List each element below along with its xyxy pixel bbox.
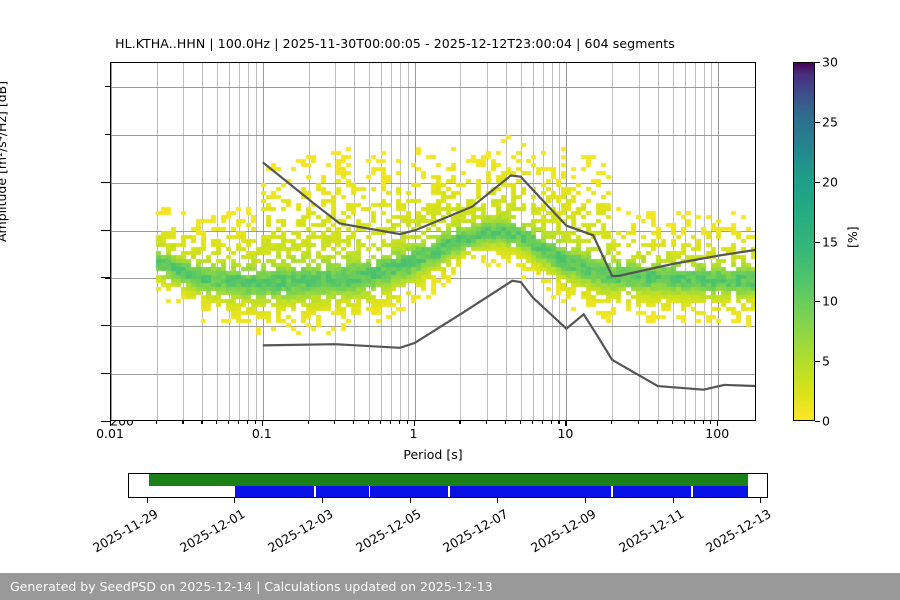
x-tick-mark: [216, 421, 217, 424]
x-tick-mark: [611, 421, 612, 424]
date-tick-mark: [585, 498, 586, 503]
x-tick-mark: [201, 421, 202, 424]
timeline-gap: [611, 486, 613, 498]
date-tick-label: 2025-12-03: [265, 506, 335, 555]
x-tick-mark: [182, 421, 183, 424]
x-tick-mark: [334, 421, 335, 424]
x-tick-label: 1: [410, 426, 418, 441]
x-tick-mark: [156, 421, 157, 424]
page-title: HL.KTHA..HHN | 100.0Hz | 2025-11-30T00:0…: [0, 36, 790, 51]
x-tick-mark: [353, 421, 354, 424]
colorbar-tick-mark: [815, 182, 820, 183]
x-tick-mark: [368, 421, 369, 424]
timeline-gap: [369, 486, 371, 498]
x-tick-mark: [684, 421, 685, 424]
x-tick-mark: [486, 421, 487, 424]
data-availability-timeline[interactable]: [128, 473, 768, 498]
colorbar-tick-mark: [815, 421, 820, 422]
colorbar-tick-label: 0: [822, 414, 830, 429]
colorbar-tick-label: 20: [822, 174, 838, 189]
colorbar-tick-label: 10: [822, 294, 838, 309]
x-tick-mark: [459, 421, 460, 424]
x-tick-label: 100: [705, 426, 729, 441]
x-tick-mark: [380, 421, 381, 424]
psd-figure: HL.KTHA..HHN | 100.0Hz | 2025-11-30T00:0…: [0, 0, 900, 600]
date-tick-label: 2025-12-05: [353, 506, 423, 555]
x-tick-mark: [505, 421, 506, 424]
date-tick-label: 2025-12-11: [616, 506, 686, 555]
x-tick-mark: [238, 421, 239, 424]
date-tick-label: 2025-12-01: [177, 506, 247, 555]
noise-model-lines: [111, 63, 755, 420]
colorbar-tick-label: 25: [822, 114, 838, 129]
colorbar-tick-mark: [815, 301, 820, 302]
x-tick-mark: [657, 421, 658, 424]
x-tick-label: 0.1: [252, 426, 272, 441]
colorbar-tick-label: 15: [822, 234, 838, 249]
x-tick-mark: [551, 421, 552, 424]
footer-text: Generated by SeedPSD on 2025-12-14 | Cal…: [10, 579, 493, 594]
colorbar-tick-mark: [815, 242, 820, 243]
x-tick-mark: [399, 421, 400, 424]
date-tick-mark: [322, 498, 323, 503]
x-tick-mark: [694, 421, 695, 424]
date-tick-label: 2025-11-29: [90, 506, 160, 555]
colorbar-tick-label: 30: [822, 55, 838, 70]
date-tick-mark: [147, 498, 148, 503]
x-tick-label: 0.01: [96, 426, 124, 441]
nhnm-curve: [263, 162, 755, 276]
x-tick-mark: [390, 421, 391, 424]
timeline-gap: [691, 486, 693, 498]
x-tick-mark: [638, 421, 639, 424]
date-tick-mark: [410, 498, 411, 503]
x-tick-mark: [710, 421, 711, 424]
x-tick-mark: [558, 421, 559, 424]
colorbar-tick-mark: [815, 361, 820, 362]
date-tick-label: 2025-12-09: [528, 506, 598, 555]
timeline-clip: [129, 474, 767, 497]
x-tick-mark: [228, 421, 229, 424]
date-tick-mark: [673, 498, 674, 503]
x-tick-mark: [672, 421, 673, 424]
footer-bar: Generated by SeedPSD on 2025-12-14 | Cal…: [0, 573, 900, 600]
x-tick-mark: [542, 421, 543, 424]
psd-plot-clip: [111, 63, 755, 420]
colorbar: [793, 62, 815, 421]
x-tick-mark: [255, 421, 256, 424]
timeline-blue-bar: [235, 486, 748, 498]
nlnm-curve: [263, 281, 755, 390]
x-tick-mark: [703, 421, 704, 424]
colorbar-label: [%]: [845, 226, 860, 248]
date-tick-mark: [497, 498, 498, 503]
timeline-gap: [314, 486, 316, 498]
y-axis-label: Amplitude [m²/s⁴/Hz] [dB]: [0, 81, 9, 242]
colorbar-tick-mark: [815, 122, 820, 123]
date-tick-label: 2025-12-13: [703, 506, 773, 555]
colorbar-tick-label: 5: [822, 354, 830, 369]
date-tick-mark: [760, 498, 761, 503]
x-tick-mark: [520, 421, 521, 424]
date-tick-label: 2025-12-07: [440, 506, 510, 555]
x-tick-mark: [407, 421, 408, 424]
x-tick-mark: [247, 421, 248, 424]
x-axis-label: Period [s]: [110, 447, 756, 462]
timeline-green-bar: [149, 474, 747, 486]
psd-plot-area: [110, 62, 756, 421]
date-tick-mark: [234, 498, 235, 503]
colorbar-tick-mark: [815, 62, 820, 63]
x-tick-mark: [532, 421, 533, 424]
x-tick-label: 10: [557, 426, 573, 441]
timeline-gap: [448, 486, 450, 498]
x-tick-mark: [308, 421, 309, 424]
